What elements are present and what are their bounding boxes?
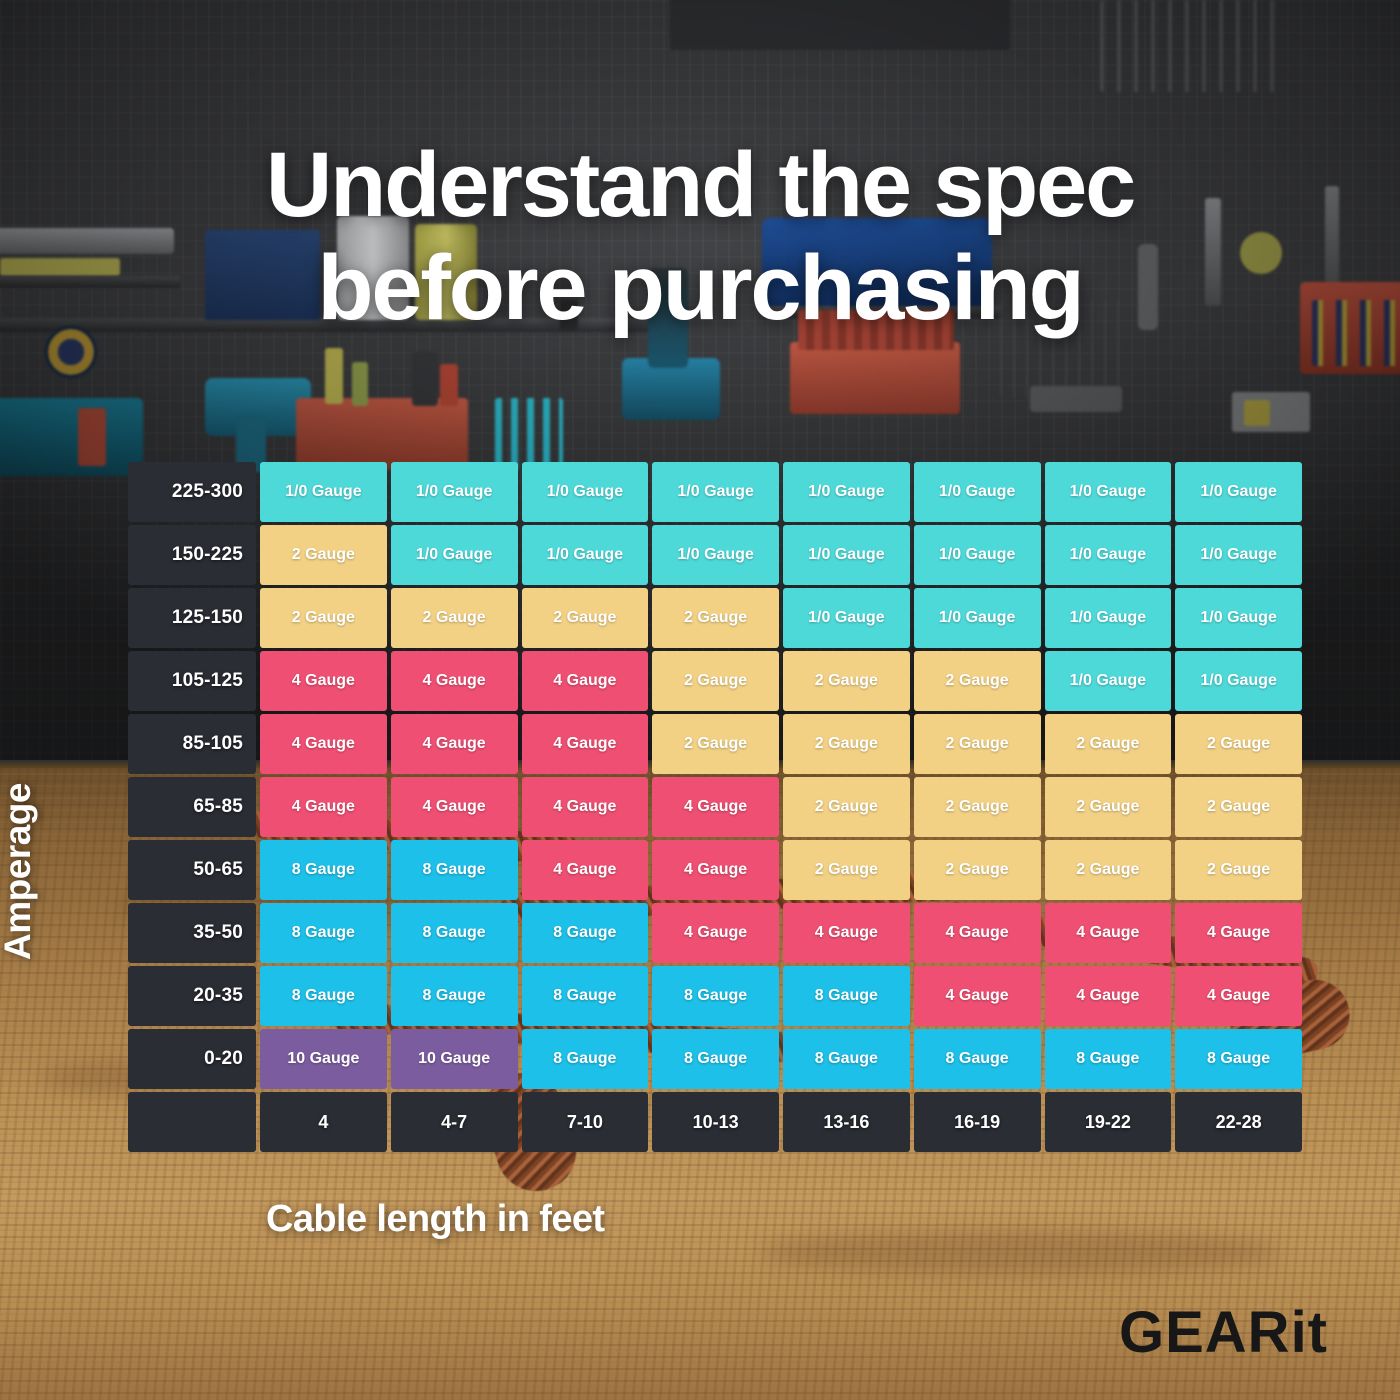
gauge-cell: 1/0 Gauge: [783, 525, 910, 585]
infographic-canvas: Understand the spec before purchasing 22…: [0, 0, 1400, 1400]
gauge-cell: 8 Gauge: [783, 1029, 910, 1089]
gauge-cell: 2 Gauge: [914, 840, 1041, 900]
amperage-row-header: 65-85: [128, 777, 256, 837]
gauge-cell: 2 Gauge: [652, 588, 779, 648]
amperage-row-header: 85-105: [128, 714, 256, 774]
gauge-cell: 1/0 Gauge: [652, 525, 779, 585]
gauge-cell: 1/0 Gauge: [914, 462, 1041, 522]
cable-length-column-header: 19-22: [1045, 1092, 1172, 1152]
gauge-cell: 2 Gauge: [1175, 840, 1302, 900]
gauge-cell: 8 Gauge: [522, 1029, 649, 1089]
page-title-line-1: Understand the spec: [0, 134, 1400, 237]
gauge-cell: 2 Gauge: [522, 588, 649, 648]
cable-length-column-header: 4: [260, 1092, 387, 1152]
gauge-cell: 1/0 Gauge: [1175, 525, 1302, 585]
gauge-cell: 10 Gauge: [260, 1029, 387, 1089]
gauge-cell: 8 Gauge: [260, 840, 387, 900]
amperage-row-header: 50-65: [128, 840, 256, 900]
gauge-cell: 4 Gauge: [391, 651, 518, 711]
gauge-cell: 8 Gauge: [391, 903, 518, 963]
gauge-cell: 4 Gauge: [260, 714, 387, 774]
gauge-cell: 8 Gauge: [652, 966, 779, 1026]
cable-length-column-header: 10-13: [652, 1092, 779, 1152]
page-title-line-2: before purchasing: [0, 237, 1400, 340]
amperage-row-header: 0-20: [128, 1029, 256, 1089]
gauge-cell: 8 Gauge: [914, 1029, 1041, 1089]
gauge-cell: 2 Gauge: [783, 840, 910, 900]
gauge-cell: 2 Gauge: [1045, 714, 1172, 774]
wood-grain-2: [760, 1230, 1280, 1274]
gauge-cell: 4 Gauge: [260, 777, 387, 837]
gauge-cell: 2 Gauge: [783, 651, 910, 711]
gauge-cell: 4 Gauge: [260, 651, 387, 711]
cable-length-column-header: 22-28: [1175, 1092, 1302, 1152]
gauge-cell: 1/0 Gauge: [914, 525, 1041, 585]
gauge-cell: 2 Gauge: [260, 588, 387, 648]
x-axis-label: Cable length in feet: [266, 1198, 604, 1241]
gauge-cell: 1/0 Gauge: [1045, 525, 1172, 585]
gauge-cell: 2 Gauge: [1175, 777, 1302, 837]
amperage-row-header: 35-50: [128, 903, 256, 963]
page-title: Understand the spec before purchasing: [0, 134, 1400, 340]
gauge-cell: 4 Gauge: [652, 777, 779, 837]
gauge-cell: 8 Gauge: [391, 966, 518, 1026]
gauge-cell: 4 Gauge: [522, 777, 649, 837]
gauge-cell: 4 Gauge: [783, 903, 910, 963]
gauge-cell: 1/0 Gauge: [652, 462, 779, 522]
gauge-cell: 2 Gauge: [1045, 840, 1172, 900]
amperage-row-header: 225-300: [128, 462, 256, 522]
gauge-cell: 8 Gauge: [522, 966, 649, 1026]
gauge-cell: 2 Gauge: [1175, 714, 1302, 774]
gauge-cell: 1/0 Gauge: [522, 462, 649, 522]
gauge-cell: 1/0 Gauge: [1045, 588, 1172, 648]
gauge-cell: 2 Gauge: [914, 777, 1041, 837]
amperage-row-header: 20-35: [128, 966, 256, 1026]
gauge-cell: 4 Gauge: [914, 966, 1041, 1026]
gauge-cell: 2 Gauge: [783, 777, 910, 837]
gauge-cell: 4 Gauge: [391, 714, 518, 774]
gauge-cell: 4 Gauge: [1175, 966, 1302, 1026]
gauge-cell: 1/0 Gauge: [1045, 462, 1172, 522]
gauge-cell: 8 Gauge: [391, 840, 518, 900]
gauge-cell: 1/0 Gauge: [391, 525, 518, 585]
gauge-cell: 8 Gauge: [522, 903, 649, 963]
amperage-row-header: 125-150: [128, 588, 256, 648]
cable-length-column-header: 4-7: [391, 1092, 518, 1152]
gauge-cell: 2 Gauge: [914, 651, 1041, 711]
gauge-cell: 4 Gauge: [914, 903, 1041, 963]
gauge-cell: 2 Gauge: [914, 714, 1041, 774]
amperage-row-header: 105-125: [128, 651, 256, 711]
gauge-cell: 1/0 Gauge: [260, 462, 387, 522]
gauge-cell: 4 Gauge: [522, 840, 649, 900]
gauge-cell: 1/0 Gauge: [783, 462, 910, 522]
matrix-corner: [128, 1092, 256, 1152]
gauge-cell: 1/0 Gauge: [1175, 462, 1302, 522]
matrix-grid: 225-3001/0 Gauge1/0 Gauge1/0 Gauge1/0 Ga…: [128, 462, 1302, 1152]
gauge-cell: 8 Gauge: [260, 903, 387, 963]
gauge-cell: 4 Gauge: [1175, 903, 1302, 963]
gauge-cell: 8 Gauge: [783, 966, 910, 1026]
gauge-cell: 4 Gauge: [652, 840, 779, 900]
gauge-cell: 1/0 Gauge: [1175, 588, 1302, 648]
cable-length-column-header: 7-10: [522, 1092, 649, 1152]
cable-length-column-header: 16-19: [914, 1092, 1041, 1152]
gauge-cell: 8 Gauge: [1175, 1029, 1302, 1089]
gauge-cell: 4 Gauge: [1045, 903, 1172, 963]
gearit-logo: GEARit: [1119, 1299, 1328, 1366]
gauge-cell: 2 Gauge: [391, 588, 518, 648]
gauge-cell: 1/0 Gauge: [914, 588, 1041, 648]
amperage-row-header: 150-225: [128, 525, 256, 585]
gauge-cell: 1/0 Gauge: [783, 588, 910, 648]
gauge-cell: 1/0 Gauge: [1045, 651, 1172, 711]
gauge-cell: 2 Gauge: [652, 714, 779, 774]
gauge-cell: 2 Gauge: [260, 525, 387, 585]
gauge-cell: 8 Gauge: [260, 966, 387, 1026]
gauge-cell: 4 Gauge: [522, 714, 649, 774]
gauge-cell: 1/0 Gauge: [1175, 651, 1302, 711]
gauge-cell: 4 Gauge: [1045, 966, 1172, 1026]
gauge-cell: 1/0 Gauge: [391, 462, 518, 522]
gauge-cell: 8 Gauge: [1045, 1029, 1172, 1089]
gauge-cell: 8 Gauge: [652, 1029, 779, 1089]
y-axis-label: Amperage: [0, 680, 39, 960]
gauge-cell: 2 Gauge: [783, 714, 910, 774]
gauge-cell: 4 Gauge: [652, 903, 779, 963]
gauge-cell: 1/0 Gauge: [522, 525, 649, 585]
gauge-selection-matrix: 225-3001/0 Gauge1/0 Gauge1/0 Gauge1/0 Ga…: [128, 462, 1302, 1152]
gauge-cell: 2 Gauge: [652, 651, 779, 711]
gauge-cell: 4 Gauge: [391, 777, 518, 837]
gauge-cell: 10 Gauge: [391, 1029, 518, 1089]
gauge-cell: 2 Gauge: [1045, 777, 1172, 837]
cable-length-column-header: 13-16: [783, 1092, 910, 1152]
gauge-cell: 4 Gauge: [522, 651, 649, 711]
